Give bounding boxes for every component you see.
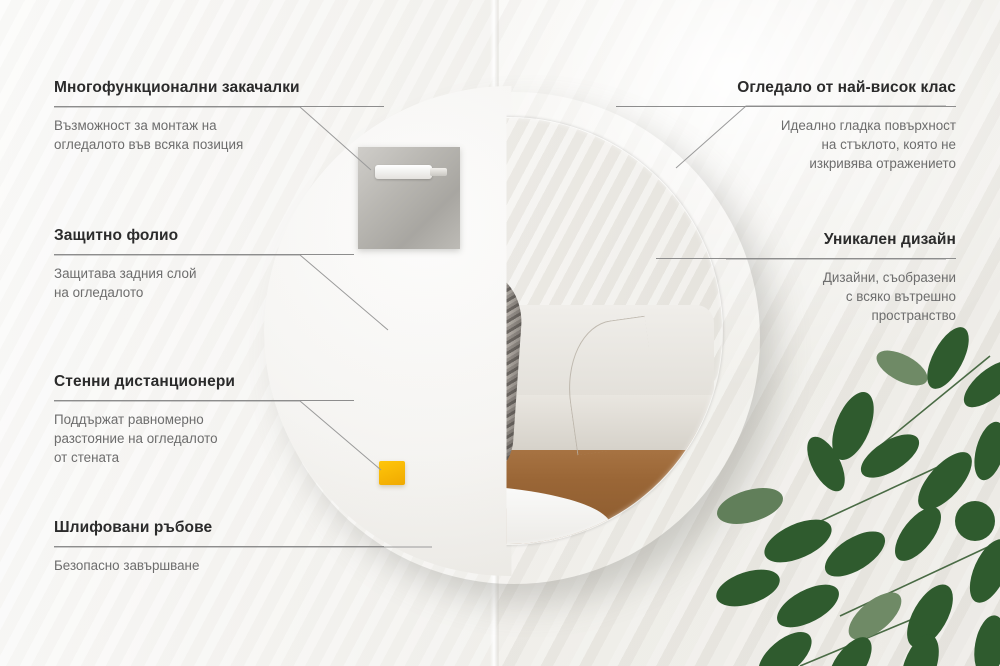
- callout-body: Идеално гладка повърхностна стъклото, ко…: [616, 116, 956, 173]
- callout-protective-film: Защитно фолио Защитава задния слойна огл…: [54, 227, 354, 302]
- callout-polished-edges: Шлифовани ръбове Безопасно завършване: [54, 519, 384, 575]
- callout-multifunctional-hangers: Многофункционални закачалки Възможност з…: [54, 79, 384, 154]
- callout-body: Възможност за монтаж наогледалото във вс…: [54, 116, 384, 154]
- hanger-bracket-part: [358, 147, 460, 249]
- callout-title: Уникален дизайн: [656, 231, 956, 259]
- callout-title: Многофункционални закачалки: [54, 79, 384, 107]
- callout-body: Защитава задния слойна огледалото: [54, 264, 354, 302]
- callout-top-class-mirror: Огледало от най-висок клас Идеално гладк…: [616, 79, 956, 173]
- infographic-canvas: Многофункционални закачалки Възможност з…: [0, 0, 1000, 666]
- hanger-keyhole-slot: [375, 165, 432, 178]
- callout-title: Защитно фолио: [54, 227, 354, 255]
- callout-title: Огледало от най-висок клас: [616, 79, 956, 107]
- callout-title: Стенни дистанционери: [54, 373, 354, 401]
- callout-body: Поддържат равномерноразстояние на огледа…: [54, 410, 354, 467]
- wall-spacer-part: [379, 461, 405, 485]
- foliage-decoration: [690, 316, 1000, 666]
- callout-body: Безопасно завършване: [54, 556, 384, 575]
- callout-unique-design: Уникален дизайн Дизайни, съобразенис вся…: [656, 231, 956, 325]
- callout-title: Шлифовани ръбове: [54, 519, 384, 547]
- callout-wall-spacers: Стенни дистанционери Поддържат равномерн…: [54, 373, 354, 467]
